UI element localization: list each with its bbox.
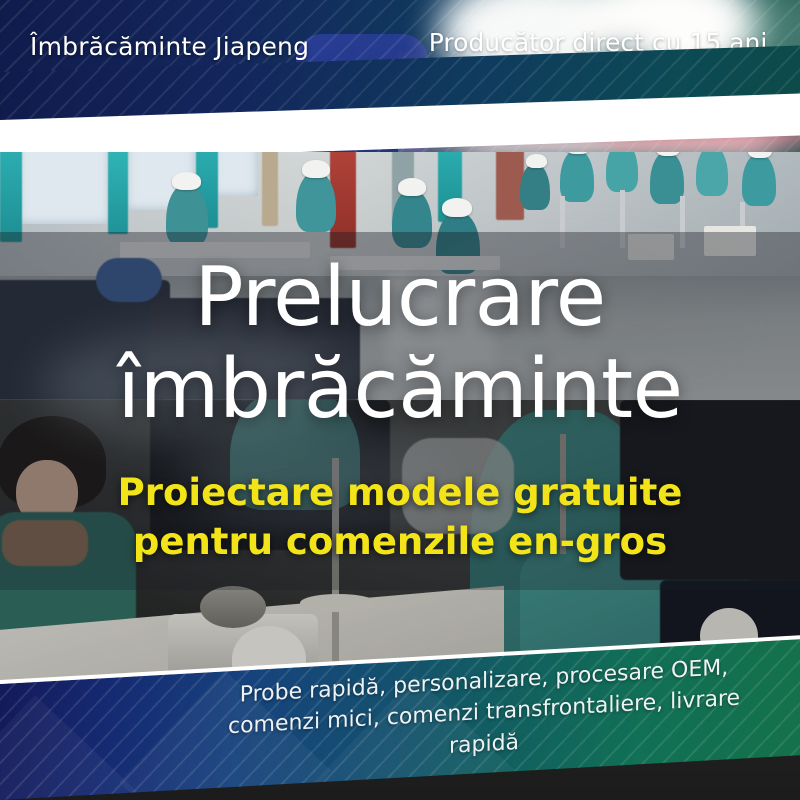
brand-name-ro: Îmbrăcăminte Jiapeng <box>30 32 309 61</box>
headline-line-2: îmbrăcăminte <box>0 344 800 436</box>
subheadline: Proiectare modele gratuite pentru comenz… <box>0 468 800 566</box>
page-title: Prelucrare îmbrăcăminte <box>0 252 800 436</box>
subheadline-line-1: Proiectare modele gratuite <box>0 468 800 517</box>
header-bar: Îmbrăcăminte Jiapeng Jiapeng garment Pro… <box>0 0 800 152</box>
subheadline-line-2: pentru comenzile en-gros <box>0 517 800 566</box>
headline-line-1: Prelucrare <box>194 250 606 345</box>
promo-poster: Îmbrăcăminte Jiapeng Jiapeng garment Pro… <box>0 0 800 800</box>
